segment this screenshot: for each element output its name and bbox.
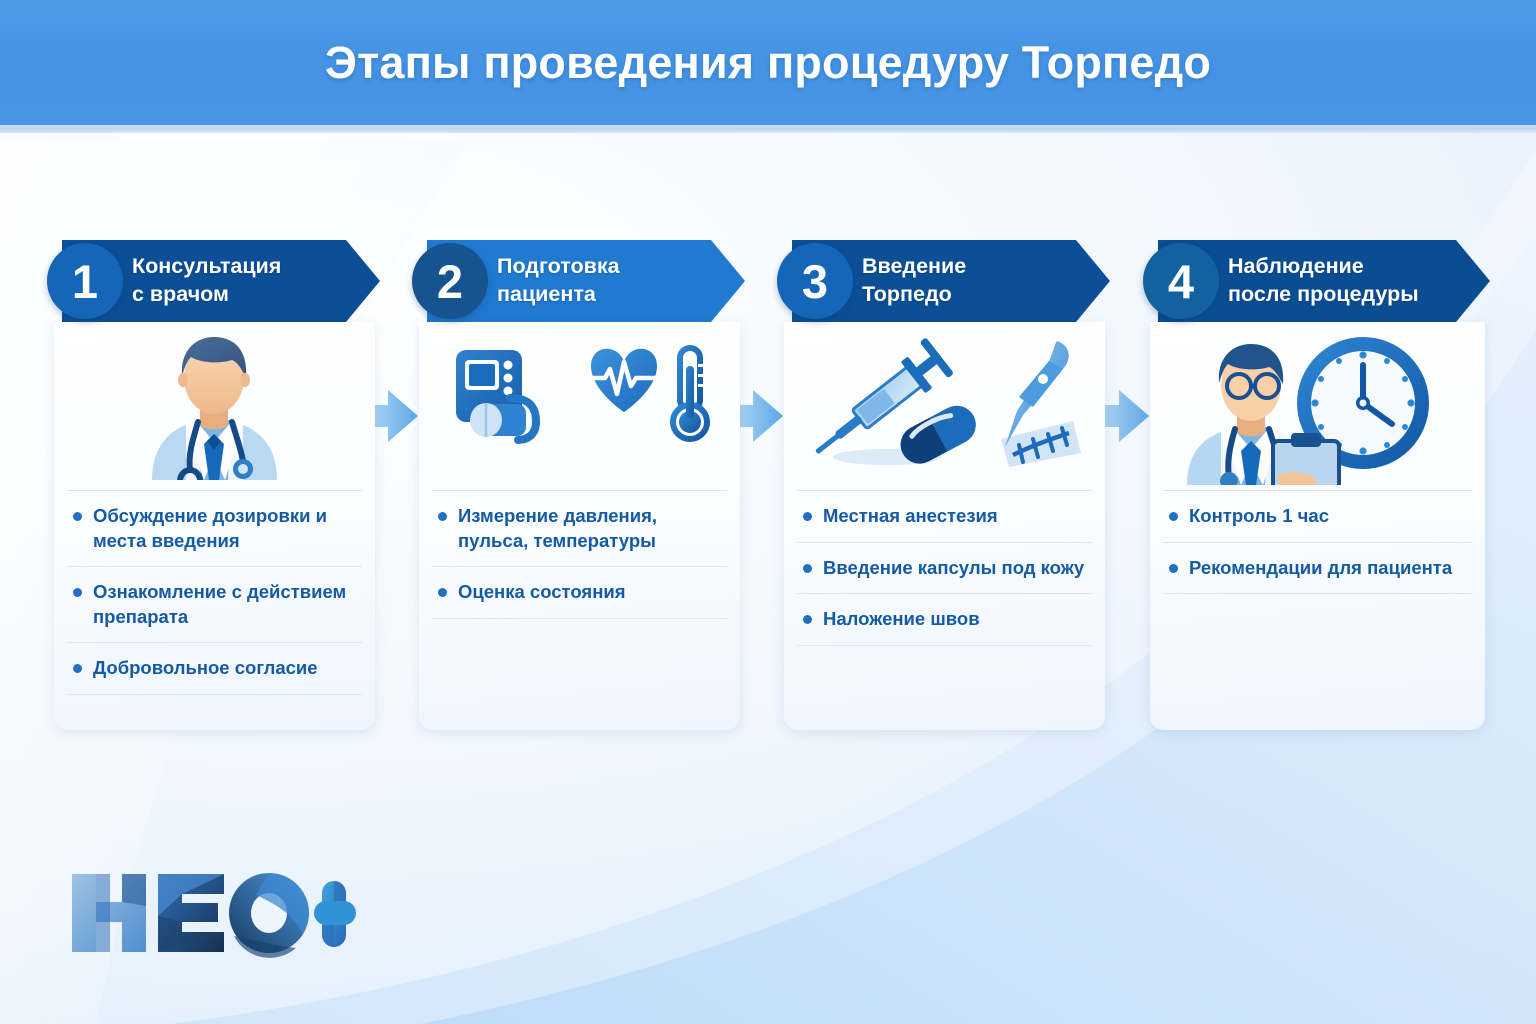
step-4-number-badge: 4 xyxy=(1143,243,1219,319)
step-3-bullet-3: Наложение швов xyxy=(823,607,980,632)
blood-pressure-monitor-icon xyxy=(456,350,536,440)
page-header-band: Этапы проведения процедуру Торпедо xyxy=(0,0,1536,125)
step-2-title: Подготовка пациента xyxy=(497,240,705,322)
bullet-dot-icon xyxy=(803,512,812,521)
step-4-title: Наблюдение после процедуры xyxy=(1228,240,1450,322)
bullet-dot-icon xyxy=(438,512,447,521)
doctor-clock-icon xyxy=(1173,325,1463,485)
bullet-dot-icon xyxy=(803,564,812,573)
step-3-bullet-2: Введение капсулы под кожу xyxy=(823,556,1084,581)
step-1-body: Обсуждение дозировки и места введения Оз… xyxy=(54,322,375,730)
list-item: Введение капсулы под кожу xyxy=(797,543,1092,595)
surgery-icons xyxy=(805,335,1085,475)
step-card-2[interactable]: 2 Подготовка пациента xyxy=(411,232,745,737)
bullet-dot-icon xyxy=(1169,512,1178,521)
bullet-dot-icon xyxy=(73,588,82,597)
step-3-title: Введение Торпедо xyxy=(862,240,1070,322)
step-2-banner: 2 Подготовка пациента xyxy=(411,240,745,322)
bullet-dot-icon xyxy=(1169,564,1178,573)
step-2-bullet-1: Измерение давления, пульса, температуры xyxy=(458,504,723,553)
heart-pulse-icon xyxy=(590,349,658,412)
bullet-dot-icon xyxy=(803,615,812,624)
steps-row: 1 Консультация с врачом xyxy=(46,232,1490,742)
thermometer-icon xyxy=(673,348,707,439)
list-item: Добровольное согласие xyxy=(67,643,362,695)
header-underline xyxy=(0,125,1536,133)
page-title: Этапы проведения процедуру Торпедо xyxy=(325,37,1211,89)
step-2-bullet-2: Оценка состояния xyxy=(458,580,626,605)
step-card-3[interactable]: 3 Введение Торпедо xyxy=(776,232,1110,737)
step-4-bullet-1: Контроль 1 час xyxy=(1189,504,1329,529)
list-item: Обсуждение дозировки и места введения xyxy=(67,491,362,567)
logo-plus-icon xyxy=(314,881,356,947)
step-1-illustration xyxy=(54,322,375,487)
list-item: Ознакомление с действием препарата xyxy=(67,567,362,643)
step-2-body: Измерение давления, пульса, температуры … xyxy=(419,322,740,730)
step-3-bullet-1: Местная анестезия xyxy=(823,504,998,529)
step-3-bullets: Местная анестезия Введение капсулы под к… xyxy=(797,490,1092,646)
logo-letter-e xyxy=(158,874,224,952)
step-1-banner: 1 Консультация с врачом xyxy=(46,240,380,322)
list-item: Оценка состояния xyxy=(432,567,727,619)
step-2-illustration xyxy=(419,322,740,482)
step-2-number-badge: 2 xyxy=(412,243,488,319)
bullet-dot-icon xyxy=(73,512,82,521)
step-1-bullets: Обсуждение дозировки и места введения Оз… xyxy=(67,490,362,695)
list-item: Измерение давления, пульса, температуры xyxy=(432,491,727,567)
step-4-bullet-2: Рекомендации для пациента xyxy=(1189,556,1452,581)
step-2-bullets: Измерение давления, пульса, температуры … xyxy=(432,490,727,619)
step-1-bullet-1: Обсуждение дозировки и места введения xyxy=(93,504,358,553)
step-1-bullet-2: Ознакомление с действием препарата xyxy=(93,580,358,629)
list-item: Контроль 1 час xyxy=(1163,491,1472,543)
step-3-number-badge: 3 xyxy=(777,243,853,319)
bullet-dot-icon xyxy=(438,588,447,597)
list-item: Местная анестезия xyxy=(797,491,1092,543)
doctor-icon xyxy=(112,330,317,480)
step-4-illustration xyxy=(1150,322,1485,487)
step-1-bullet-3: Добровольное согласие xyxy=(93,656,318,681)
step-card-1[interactable]: 1 Консультация с врачом xyxy=(46,232,380,737)
step-1-title: Консультация с врачом xyxy=(132,240,340,322)
step-3-banner: 3 Введение Торпедо xyxy=(776,240,1110,322)
list-item: Наложение швов xyxy=(797,594,1092,646)
logo-letter-o xyxy=(229,873,309,958)
infographic-root: Этапы проведения процедуру Торпедо 1 Кон… xyxy=(0,0,1536,1024)
step-1-number-badge: 1 xyxy=(47,243,123,319)
logo-letter-n xyxy=(72,874,146,952)
step-card-4[interactable]: 4 Наблюдение после процедуры xyxy=(1142,232,1490,737)
step-3-illustration xyxy=(784,322,1105,487)
step-4-body: Контроль 1 час Рекомендации для пациента xyxy=(1150,322,1485,730)
list-item: Рекомендации для пациента xyxy=(1163,543,1472,595)
brand-logo-neo-plus xyxy=(66,866,356,960)
step-3-body: Местная анестезия Введение капсулы под к… xyxy=(784,322,1105,730)
bullet-dot-icon xyxy=(73,664,82,673)
step-4-bullets: Контроль 1 час Рекомендации для пациента xyxy=(1163,490,1472,594)
step-4-banner: 4 Наблюдение после процедуры xyxy=(1142,240,1490,322)
vitals-icons xyxy=(440,342,720,462)
